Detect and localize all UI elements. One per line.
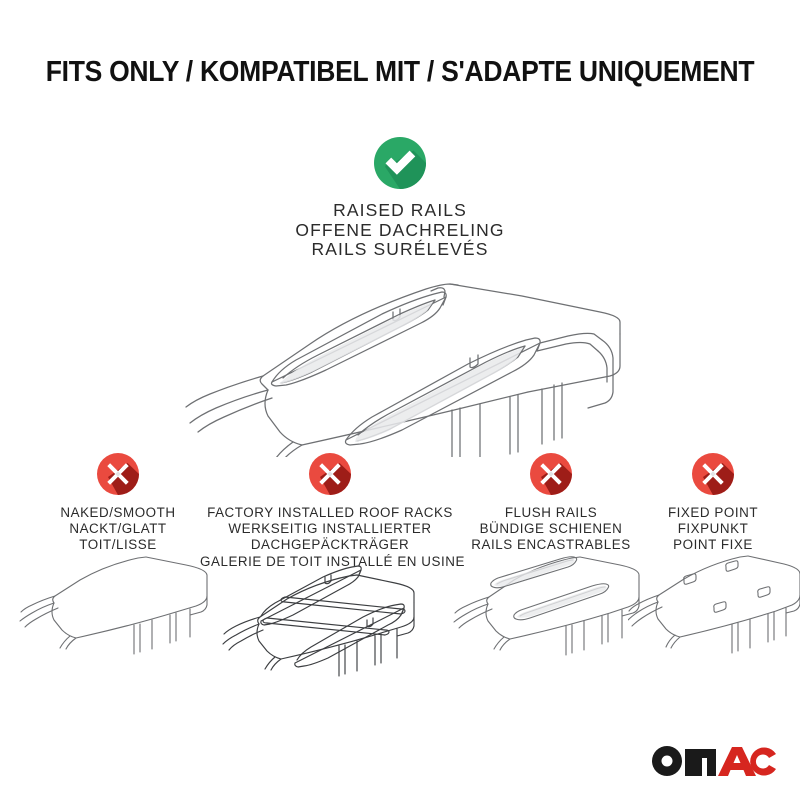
- label-de: BÜNDIGE SCHIENEN: [452, 521, 650, 537]
- label-de: FIXPUNKT: [628, 521, 798, 537]
- incompatible-label-group-flush: FLUSH RAILS BÜNDIGE SCHIENEN RAILS ENCAS…: [452, 505, 650, 554]
- label-de-1: WERKSEITIG INSTALLIERTER: [200, 521, 460, 537]
- x-circle-icon: [529, 452, 573, 496]
- incompatible-option-fixed-point: FIXED POINT FIXPUNKT POINT FIXE: [628, 452, 798, 554]
- x-circle-icon: [691, 452, 735, 496]
- compatible-label-fr: RAILS SURÉLEVÉS: [0, 240, 800, 260]
- roof-fixed-points-illustration: [628, 548, 798, 673]
- label-en: FLUSH RAILS: [452, 505, 650, 521]
- x-circle-icon: [308, 452, 352, 496]
- compatible-label-en: RAISED RAILS: [0, 201, 800, 221]
- incompatible-label-group-fixed: FIXED POINT FIXPUNKT POINT FIXE: [628, 505, 798, 554]
- label-de: NACKT/GLATT: [18, 521, 218, 537]
- omac-logo: [650, 744, 778, 778]
- label-en: NAKED/SMOOTH: [18, 505, 218, 521]
- check-circle-icon: [373, 136, 427, 190]
- roof-factory-crossbars-illustration: [200, 564, 460, 689]
- compatible-label-group: RAISED RAILS OFFENE DACHRELING RAILS SUR…: [0, 201, 800, 260]
- roof-flush-rails-illustration: [452, 548, 650, 673]
- incompatible-option-naked-smooth: NAKED/SMOOTH NACKT/GLATT TOIT/LISSE: [18, 452, 218, 554]
- label-en: FIXED POINT: [628, 505, 798, 521]
- x-circle-icon: [96, 452, 140, 496]
- label-en: FACTORY INSTALLED ROOF RACKS: [200, 505, 460, 521]
- page-title: FITS ONLY / KOMPATIBEL MIT / S'ADAPTE UN…: [28, 52, 772, 92]
- raised-rails-illustration: [150, 272, 650, 457]
- incompatible-option-factory-racks: FACTORY INSTALLED ROOF RACKS WERKSEITIG …: [200, 452, 460, 570]
- incompatible-label-group-factory: FACTORY INSTALLED ROOF RACKS WERKSEITIG …: [200, 505, 460, 570]
- compatible-section: RAISED RAILS OFFENE DACHRELING RAILS SUR…: [0, 136, 800, 260]
- compatible-label-de: OFFENE DACHRELING: [0, 221, 800, 241]
- incompatible-section: NAKED/SMOOTH NACKT/GLATT TOIT/LISSE: [0, 452, 800, 692]
- label-de-2: DACHGEPÄCKTRÄGER: [200, 537, 460, 553]
- roof-bare-illustration: [18, 548, 218, 673]
- incompatible-option-flush-rails: FLUSH RAILS BÜNDIGE SCHIENEN RAILS ENCAS…: [452, 452, 650, 554]
- incompatible-label-group-naked: NAKED/SMOOTH NACKT/GLATT TOIT/LISSE: [18, 505, 218, 554]
